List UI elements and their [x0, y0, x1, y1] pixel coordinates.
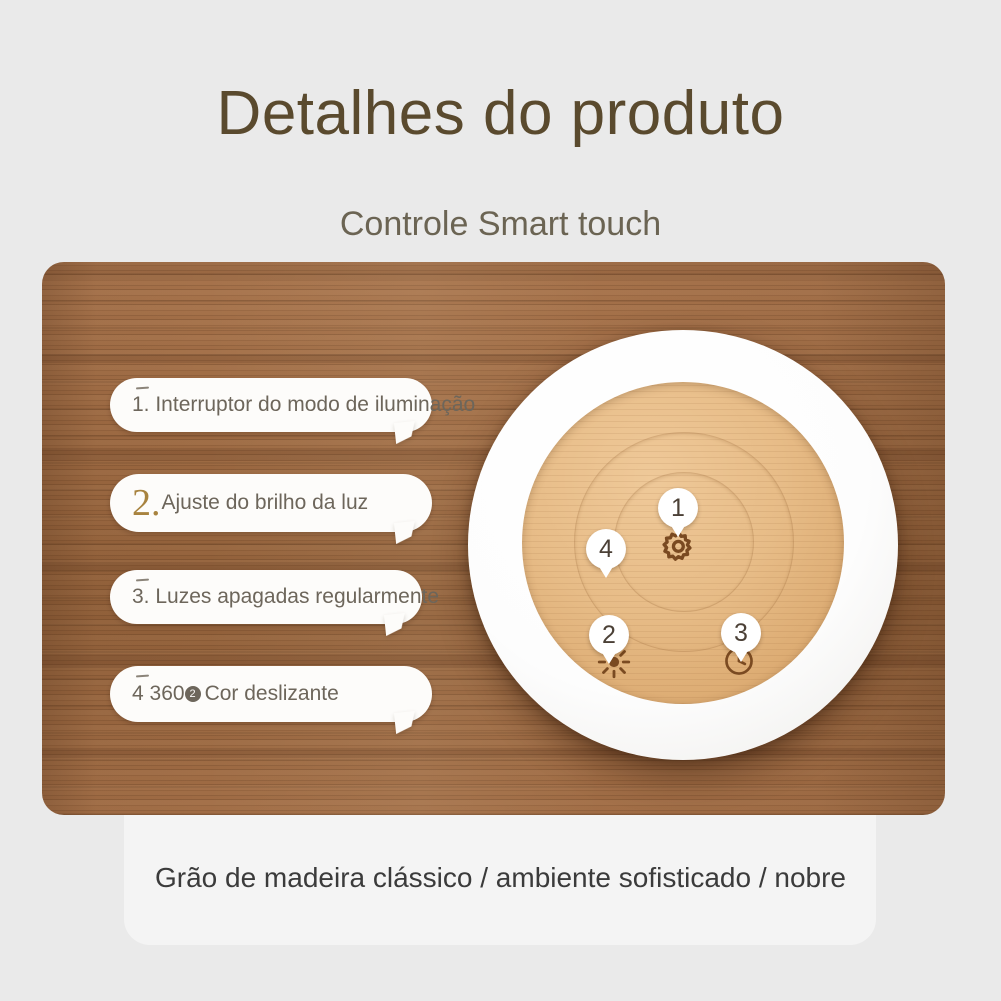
bubble-tail-icon	[394, 521, 417, 544]
callout-label-1: 1. Interruptor do modo de iluminação	[132, 393, 475, 417]
marker-pin-3[interactable]: 3	[721, 613, 761, 653]
bubble-dash-mark	[136, 675, 149, 678]
callout-bubble-3[interactable]: 3. Luzes apagadas regularmente	[110, 570, 422, 624]
bubble-tail-icon	[394, 421, 417, 444]
product-detail-page: Detalhes do produto Controle Smart touch…	[0, 0, 1001, 1001]
callout-bubble-4[interactable]: 4 360 2 Cor deslizante	[110, 666, 432, 722]
callout-bubble-1[interactable]: 1. Interruptor do modo de iluminação	[110, 378, 432, 432]
bubble-tail-icon	[384, 613, 407, 636]
page-title: Detalhes do produto	[0, 78, 1001, 149]
circled-number-icon: 2	[185, 686, 201, 702]
marker-pin-2-label: 2	[589, 615, 629, 655]
bottom-caption: Grão de madeira clássico / ambiente sofi…	[0, 862, 1001, 894]
marker-pin-1[interactable]: 1	[658, 488, 698, 528]
callout-number-2: 2.	[132, 484, 161, 522]
marker-pin-3-label: 3	[721, 613, 761, 653]
marker-pin-4[interactable]: 4	[586, 529, 626, 569]
marker-pin-2[interactable]: 2	[589, 615, 629, 655]
wood-grain-band	[42, 748, 945, 758]
wood-grain-band	[42, 262, 945, 280]
callout-bubble-2[interactable]: 2. Ajuste do brilho da luz	[110, 474, 432, 532]
wood-grain-band	[42, 354, 945, 363]
bubble-tail-icon	[394, 711, 417, 734]
callout-label-3: 3. Luzes apagadas regularmente	[132, 585, 439, 609]
callout-label-4-prefix: 4 360	[132, 682, 185, 706]
bubble-dash-mark	[136, 579, 149, 582]
bubble-dash-mark	[136, 387, 149, 390]
marker-pin-4-label: 4	[586, 529, 626, 569]
callout-label-2: Ajuste do brilho da luz	[162, 491, 369, 515]
callout-label-4-suffix: Cor deslizante	[205, 682, 339, 706]
page-subtitle: Controle Smart touch	[0, 205, 1001, 244]
marker-pin-1-label: 1	[658, 488, 698, 528]
